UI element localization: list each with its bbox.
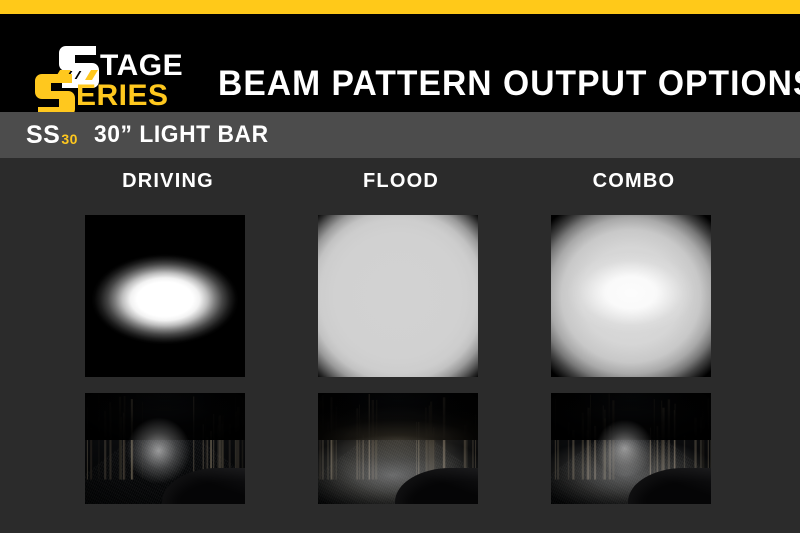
beam-columns: DRIVING (0, 158, 800, 533)
ss-badge-subscript: 30 (61, 131, 78, 147)
body-area: DRIVING (0, 158, 800, 533)
top-gold-stripe (0, 0, 800, 14)
road-photo-combo (551, 393, 711, 504)
column-combo: COMBO (518, 158, 750, 533)
beam-pattern-flood (318, 215, 478, 377)
road-photo-flood (318, 393, 478, 504)
product-subtitle-bar: SS30 30” LIGHT BAR (0, 112, 800, 158)
column-header-combo: COMBO (518, 170, 750, 193)
road-scene-driving (85, 393, 245, 504)
column-flood: FLOOD (285, 158, 517, 533)
page-title: BEAM PATTERN OUTPUT OPTIONS (218, 61, 760, 107)
ss-badge-main: SS (26, 121, 60, 150)
road-photo-driving (85, 393, 245, 504)
road-scene-flood (318, 393, 478, 504)
svg-text:ERIES: ERIES (76, 79, 169, 112)
beam-pattern-driving (85, 215, 245, 377)
ss30-badge: SS30 (26, 121, 78, 150)
svg-text:TAGE: TAGE (100, 49, 183, 82)
beam-gradient-combo (551, 215, 711, 377)
column-driving: DRIVING (52, 158, 284, 533)
beam-pattern-combo (551, 215, 711, 377)
header-band: TAGE ERIES BEAM PATTERN OUTPUT OPTIONS (0, 14, 800, 112)
column-header-driving: DRIVING (52, 170, 284, 193)
beam-gradient-flood (318, 215, 478, 377)
column-header-flood: FLOOD (285, 170, 517, 193)
stage-series-logo: TAGE ERIES (30, 38, 190, 116)
beam-gradient-driving (85, 215, 245, 377)
road-scene-combo (551, 393, 711, 504)
beam-pattern-infographic: TAGE ERIES BEAM PATTERN OUTPUT OPTIONS S… (0, 0, 800, 533)
product-subtitle-text: 30” LIGHT BAR (94, 121, 269, 149)
